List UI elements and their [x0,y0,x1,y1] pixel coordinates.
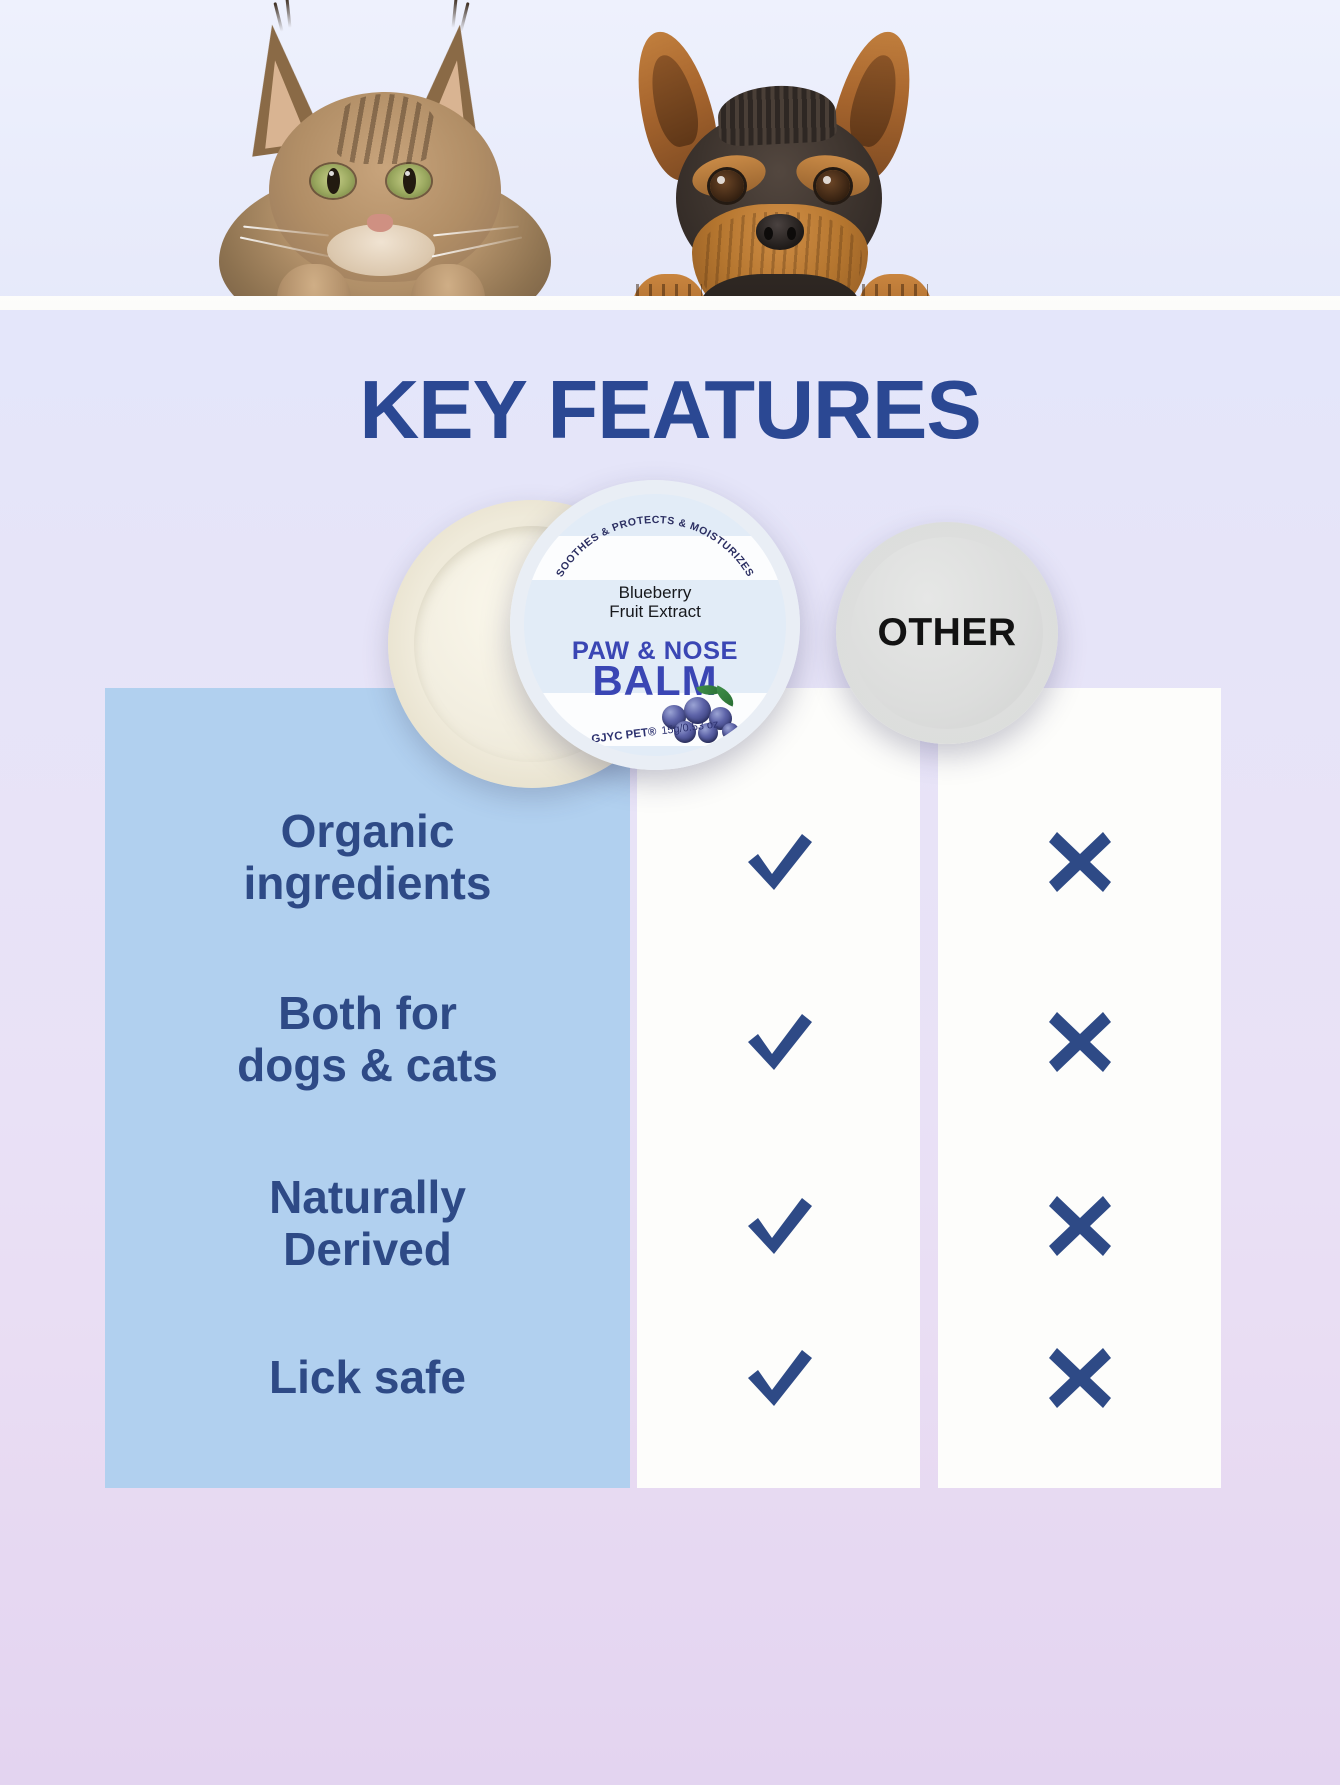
dog-eye-left [710,170,744,202]
cat-illustration [215,18,555,310]
dog-illustration [600,24,960,310]
feature-label-line2: dogs & cats [237,1039,498,1091]
cat-pupil-right [403,168,416,194]
other-mark-cell-2 [938,1194,1221,1263]
dog-topknot-fur [717,83,838,147]
check-icon [742,1194,816,1258]
other-mark-cell-3 [938,1346,1221,1415]
cross-icon [1047,1346,1113,1410]
dog-nose [756,214,804,250]
flavor-subtitle: Blueberry Fruit Extract [524,583,786,621]
feature-label-line1: Naturally [269,1171,466,1223]
tin-label-face: SOOTHES & PROTECTS & MOISTURIZES Blueber… [524,494,786,756]
dog-eye-right [816,170,850,202]
comparison-rows: Organic ingredients Both for [0,688,1340,1488]
cross-icon [1047,1010,1113,1074]
cross-icon [1047,1194,1113,1258]
hero-banner [0,0,1340,310]
other-mark-cell-1 [938,1010,1221,1079]
check-icon [742,1010,816,1074]
ours-mark-cell-2 [637,1194,920,1263]
ours-mark-cell-0 [637,830,920,899]
comparison-table: Organic ingredients Both for [0,688,1340,1518]
check-icon [742,1346,816,1410]
infographic-page: KEY FEATURES Organic ingredients [0,0,1340,1785]
other-tin-label: OTHER [878,611,1017,655]
flavor-line2: Fruit Extract [609,602,701,621]
cat-eye-right [387,164,431,198]
feature-label-line1: Organic [281,805,455,857]
product-tin-lid[interactable]: SOOTHES & PROTECTS & MOISTURIZES Blueber… [510,480,800,770]
other-tin-face: OTHER [851,537,1043,729]
feature-label-line1: Lick safe [269,1351,466,1403]
feature-label-line2: Derived [283,1223,452,1275]
other-brand-tin[interactable]: OTHER [836,522,1058,744]
dog-inner-ear-left [644,51,705,151]
cat-pupil-left [327,168,340,194]
cat-forehead-stripes [333,94,437,164]
ours-mark-cell-3 [637,1346,920,1415]
flavor-line1: Blueberry [619,583,692,602]
check-icon [742,830,816,894]
page-title: KEY FEATURES [0,368,1340,451]
cross-icon [1047,830,1113,894]
cat-eye-left [311,164,355,198]
product-tins: SOOTHES & PROTECTS & MOISTURIZES Blueber… [0,480,1340,800]
ours-mark-cell-1 [637,1010,920,1079]
feature-label-line1: Both for [278,987,457,1039]
white-ledge [0,296,1340,310]
cat-nose [367,214,393,232]
other-mark-cell-0 [938,830,1221,899]
feature-label-line2: ingredients [244,857,492,909]
tagline-text: SOOTHES & PROTECTS & MOISTURIZES [554,514,756,579]
